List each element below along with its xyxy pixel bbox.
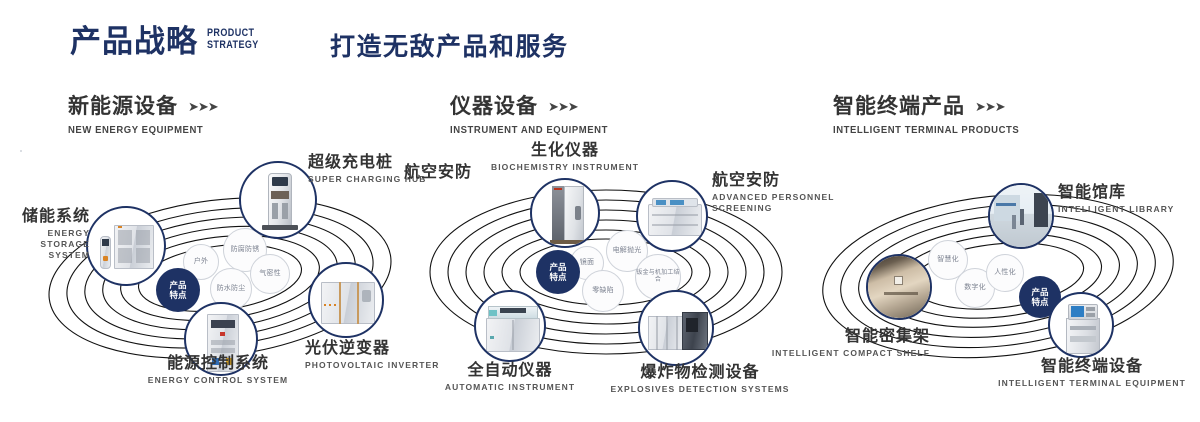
center-bubble-product-features: 产品 特点	[536, 250, 580, 294]
node-label-cn: 智能终端设备	[982, 358, 1200, 376]
node-label-cn: 能源控制系统	[68, 355, 368, 373]
label-intelligent-library: 智能馆库 INTELLIGENT LIBRARY	[1058, 184, 1200, 215]
node-label-cn: 智能密集架	[740, 328, 930, 346]
node-explosives-detection-systems[interactable]	[638, 290, 714, 366]
node-photovoltaic-inverter[interactable]	[308, 262, 384, 338]
label-energy-storage-system: 储能系统 ENERGY STORAGE SYSTEM	[0, 208, 90, 261]
autolab-photo-icon	[476, 292, 544, 360]
node-label-cn: 智能馆库	[1058, 184, 1200, 202]
label-automatic-instrument: 全自动仪器 AUTOMATIC INSTRUMENT	[420, 362, 600, 393]
center-bubble-line1: 产品	[1031, 287, 1048, 297]
node-label-en: AUTOMATIC INSTRUMENT	[420, 382, 600, 393]
node-super-charging-hub[interactable]	[239, 161, 317, 239]
node-intelligent-library[interactable]	[988, 183, 1054, 249]
page-title: 产品战略 PRODUCT STRATEGY	[70, 26, 270, 57]
node-biochemistry-instrument[interactable]	[530, 178, 600, 248]
node-intelligent-terminal-equipment[interactable]	[1048, 292, 1114, 358]
section-title-en: INTELLIGENT TERMINAL PRODUCTS	[833, 125, 1019, 136]
product-strategy-infographic: 产品战略 PRODUCT STRATEGY 打造无敌产品和服务 新能源设备 ➤➤…	[0, 0, 1200, 422]
section-title-instrument: 仪器设备 ➤➤➤ INSTRUMENT AND EQUIPMENT	[450, 96, 616, 136]
section-title-intelligent-terminal: 智能终端产品 ➤➤➤ INTELLIGENT TERMINAL PRODUCTS	[833, 96, 1029, 136]
detector-photo-icon	[640, 292, 712, 364]
cluster-intelligent-terminal: 智慧化 数字化 人性化 产品 特点 智能馆库 INTELLIGENT LIBRA…	[800, 150, 1200, 400]
node-label-cn: 全自动仪器	[420, 362, 600, 380]
node-intelligent-compact-shelf[interactable]	[866, 254, 932, 320]
section-title-en: NEW ENERGY EQUIPMENT	[68, 125, 210, 136]
kiosk-photo-icon	[1050, 294, 1112, 356]
center-bubble-line1: 产品	[169, 280, 186, 290]
label-intelligent-compact-shelf: 智能密集架 INTELLIGENT COMPACT SHELF	[740, 328, 930, 359]
chevron-right-icon: ➤➤➤	[975, 99, 1005, 115]
page-title-cn: 产品战略	[70, 26, 198, 57]
center-bubble-line2: 特点	[549, 272, 566, 282]
node-label-en: ENERGY CONTROL SYSTEM	[68, 375, 368, 386]
page-title-en: PRODUCT STRATEGY	[207, 28, 259, 51]
section-title-cn: 新能源设备	[68, 96, 178, 117]
cluster-new-energy: 户外 防腐防锈 防水防尘 气密性 产品 特点 储能	[20, 150, 420, 400]
cluster-instrument: 镜面 电解抛光 零缺陷 钣金与机加工结合 产品 特点 生化仪器 BIOCHEMI…	[410, 150, 810, 400]
node-label-cn: 生化仪器	[470, 142, 660, 160]
node-automatic-instrument[interactable]	[474, 290, 546, 362]
center-bubble-line1: 产品	[549, 262, 566, 272]
feature-bubble: 气密性	[250, 254, 290, 294]
page-title-en-line2: STRATEGY	[207, 40, 259, 52]
analyzer-photo-icon	[638, 182, 706, 250]
node-label-en: INTELLIGENT COMPACT SHELF	[740, 348, 930, 359]
node-label-cn: 航空安防	[404, 164, 524, 182]
node-label-en: INTELLIGENT LIBRARY	[1058, 204, 1200, 215]
chevron-right-icon: ➤➤➤	[188, 99, 218, 115]
inverter-photo-icon	[310, 264, 382, 336]
page-subtitle: 打造无敌产品和服务	[330, 35, 569, 60]
node-label-cn: 爆炸物检测设备	[590, 364, 810, 382]
section-title-cn: 仪器设备	[450, 96, 538, 117]
scanner-photo-icon	[532, 180, 598, 246]
section-title-cn: 智能终端产品	[833, 96, 965, 117]
center-bubble-line2: 特点	[169, 290, 186, 300]
charger-photo-icon	[241, 163, 315, 237]
section-title-new-energy: 新能源设备 ➤➤➤ NEW ENERGY EQUIPMENT	[68, 96, 218, 136]
label-aviation-security: 航空安防	[404, 164, 524, 182]
section-title-en: INSTRUMENT AND EQUIPMENT	[450, 125, 608, 136]
node-label-en: ENERGY STORAGE SYSTEM	[0, 228, 90, 261]
cabinet-photo-icon	[88, 208, 164, 284]
center-bubble-line2: 特点	[1031, 297, 1048, 307]
node-label-en: INTELLIGENT TERMINAL EQUIPMENT	[982, 378, 1200, 389]
feature-bubble: 零缺陷	[582, 270, 624, 312]
chevron-right-icon: ➤➤➤	[548, 99, 578, 115]
label-energy-control-system: 能源控制系统 ENERGY CONTROL SYSTEM	[68, 355, 368, 386]
feature-bubble: 人性化	[986, 254, 1024, 292]
label-intelligent-terminal-equipment: 智能终端设备 INTELLIGENT TERMINAL EQUIPMENT	[982, 358, 1200, 389]
node-advanced-personnel-screening[interactable]	[636, 180, 708, 252]
node-energy-storage-system[interactable]	[86, 206, 166, 286]
library-photo-icon	[990, 185, 1052, 247]
node-label-en: EXPLOSIVES DETECTION SYSTEMS	[590, 384, 810, 395]
label-explosives-detection-systems: 爆炸物检测设备 EXPLOSIVES DETECTION SYSTEMS	[590, 364, 810, 395]
node-label-cn: 储能系统	[0, 208, 90, 226]
page-title-en-line1: PRODUCT	[207, 28, 259, 40]
shelf-photo-icon	[868, 256, 930, 318]
